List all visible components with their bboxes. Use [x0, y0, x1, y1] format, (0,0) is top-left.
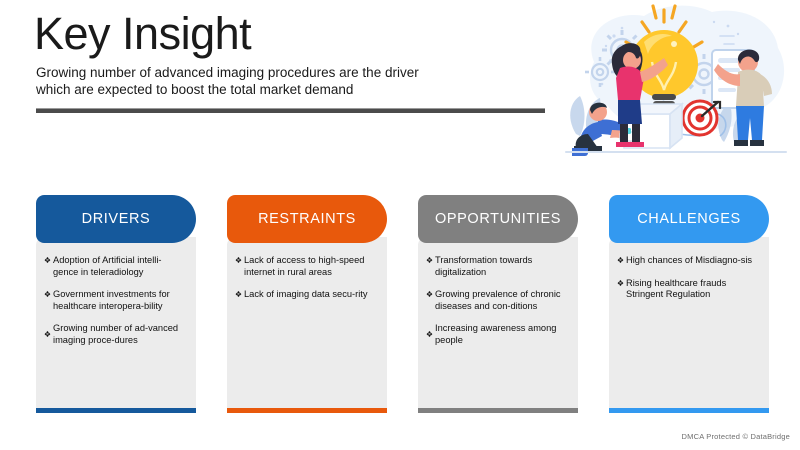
diamond-bullet-icon: ❖	[233, 255, 244, 267]
card-restraints: RESTRAINTS❖Lack of access to high-speed …	[227, 195, 387, 413]
list-item: ❖Lack of imaging data secu-rity	[233, 289, 377, 301]
card-header-challenges[interactable]: CHALLENGES	[609, 195, 769, 243]
card-body-opportunities: ❖Transformation towards digitalization❖G…	[418, 237, 578, 408]
lightbulb-teamwork-illustration	[552, 2, 800, 162]
list-item-text: High chances of Misdiagno-sis	[626, 255, 759, 267]
card-body-drivers: ❖Adoption of Artificial intelli-gence in…	[36, 237, 196, 408]
diamond-bullet-icon: ❖	[615, 278, 626, 290]
bulb-base-1	[652, 94, 676, 100]
list-item: ❖Government investments for healthcare i…	[42, 289, 186, 312]
list-item-text: Growing prevalence of chronic diseases a…	[435, 289, 568, 312]
subtitle-line-1: Growing number of advanced imaging proce…	[36, 65, 419, 80]
footer-credit: DMCA Protected © DataBridge	[682, 432, 790, 441]
diamond-bullet-icon: ❖	[42, 329, 53, 341]
card-title-opportunities: OPPORTUNITIES	[435, 211, 561, 227]
cards-container: DRIVERS❖Adoption of Artificial intelli-g…	[0, 195, 800, 420]
list-item: ❖Lack of access to high-speed internet i…	[233, 255, 377, 278]
title-divider	[36, 108, 545, 113]
list-item: ❖Adoption of Artificial intelli-gence in…	[42, 255, 186, 278]
bullet-list-opportunities: ❖Transformation towards digitalization❖G…	[424, 255, 568, 347]
list-item-text: Growing number of ad-vanced imaging proc…	[53, 323, 186, 346]
slide-root: Key Insight Growing number of advanced i…	[0, 0, 800, 450]
card-title-restraints: RESTRAINTS	[258, 211, 356, 227]
list-item-text: Lack of access to high-speed internet in…	[244, 255, 377, 278]
card-body-challenges: ❖High chances of Misdiagno-sis❖Rising he…	[609, 237, 769, 408]
target-icon	[683, 101, 720, 135]
list-item-text: Adoption of Artificial intelli-gence in …	[53, 255, 186, 278]
list-item-text: Lack of imaging data secu-rity	[244, 289, 377, 301]
page-subtitle: Growing number of advanced imaging proce…	[36, 64, 536, 98]
bulb-sparkle	[671, 41, 677, 47]
list-item: ❖Rising healthcare frauds Stringent Regu…	[615, 278, 759, 301]
list-item: ❖High chances of Misdiagno-sis	[615, 255, 759, 267]
diamond-bullet-icon: ❖	[42, 289, 53, 301]
card-accent-bar-drivers	[36, 408, 196, 413]
list-item: ❖Growing prevalence of chronic diseases …	[424, 289, 568, 312]
board-line-4	[718, 88, 736, 92]
list-item: ❖Growing number of ad-vanced imaging pro…	[42, 323, 186, 346]
list-item-text: Government investments for healthcare in…	[53, 289, 186, 312]
card-title-challenges: CHALLENGES	[637, 211, 741, 227]
card-drivers: DRIVERS❖Adoption of Artificial intelli-g…	[36, 195, 196, 413]
diamond-bullet-icon: ❖	[615, 255, 626, 267]
card-accent-bar-opportunities	[418, 408, 578, 413]
diamond-bullet-icon: ❖	[424, 255, 435, 267]
page-title: Key Insight	[34, 8, 251, 60]
card-accent-bar-restraints	[227, 408, 387, 413]
card-header-opportunities[interactable]: OPPORTUNITIES	[418, 195, 578, 243]
subtitle-line-2: which are expected to boost the total ma…	[36, 81, 536, 98]
card-header-drivers[interactable]: DRIVERS	[36, 195, 196, 243]
list-item-text: Transformation towards digitalization	[435, 255, 568, 278]
card-title-drivers: DRIVERS	[82, 211, 151, 227]
card-header-restraints[interactable]: RESTRAINTS	[227, 195, 387, 243]
diamond-bullet-icon: ❖	[424, 329, 435, 341]
list-item-text: Increasing awareness among people	[435, 323, 568, 346]
card-opportunities: OPPORTUNITIES❖Transformation towards dig…	[418, 195, 578, 413]
diamond-bullet-icon: ❖	[42, 255, 53, 267]
card-body-restraints: ❖Lack of access to high-speed internet i…	[227, 237, 387, 408]
list-item: ❖Increasing awareness among people	[424, 323, 568, 346]
diamond-bullet-icon: ❖	[424, 289, 435, 301]
list-item-text: Rising healthcare frauds Stringent Regul…	[626, 278, 759, 301]
bullet-list-restraints: ❖Lack of access to high-speed internet i…	[233, 255, 377, 301]
list-item: ❖Transformation towards digitalization	[424, 255, 568, 278]
diamond-bullet-icon: ❖	[233, 289, 244, 301]
card-challenges: CHALLENGES❖High chances of Misdiagno-sis…	[609, 195, 769, 413]
bullet-list-challenges: ❖High chances of Misdiagno-sis❖Rising he…	[615, 255, 759, 301]
card-accent-bar-challenges	[609, 408, 769, 413]
bullet-list-drivers: ❖Adoption of Artificial intelli-gence in…	[42, 255, 186, 347]
